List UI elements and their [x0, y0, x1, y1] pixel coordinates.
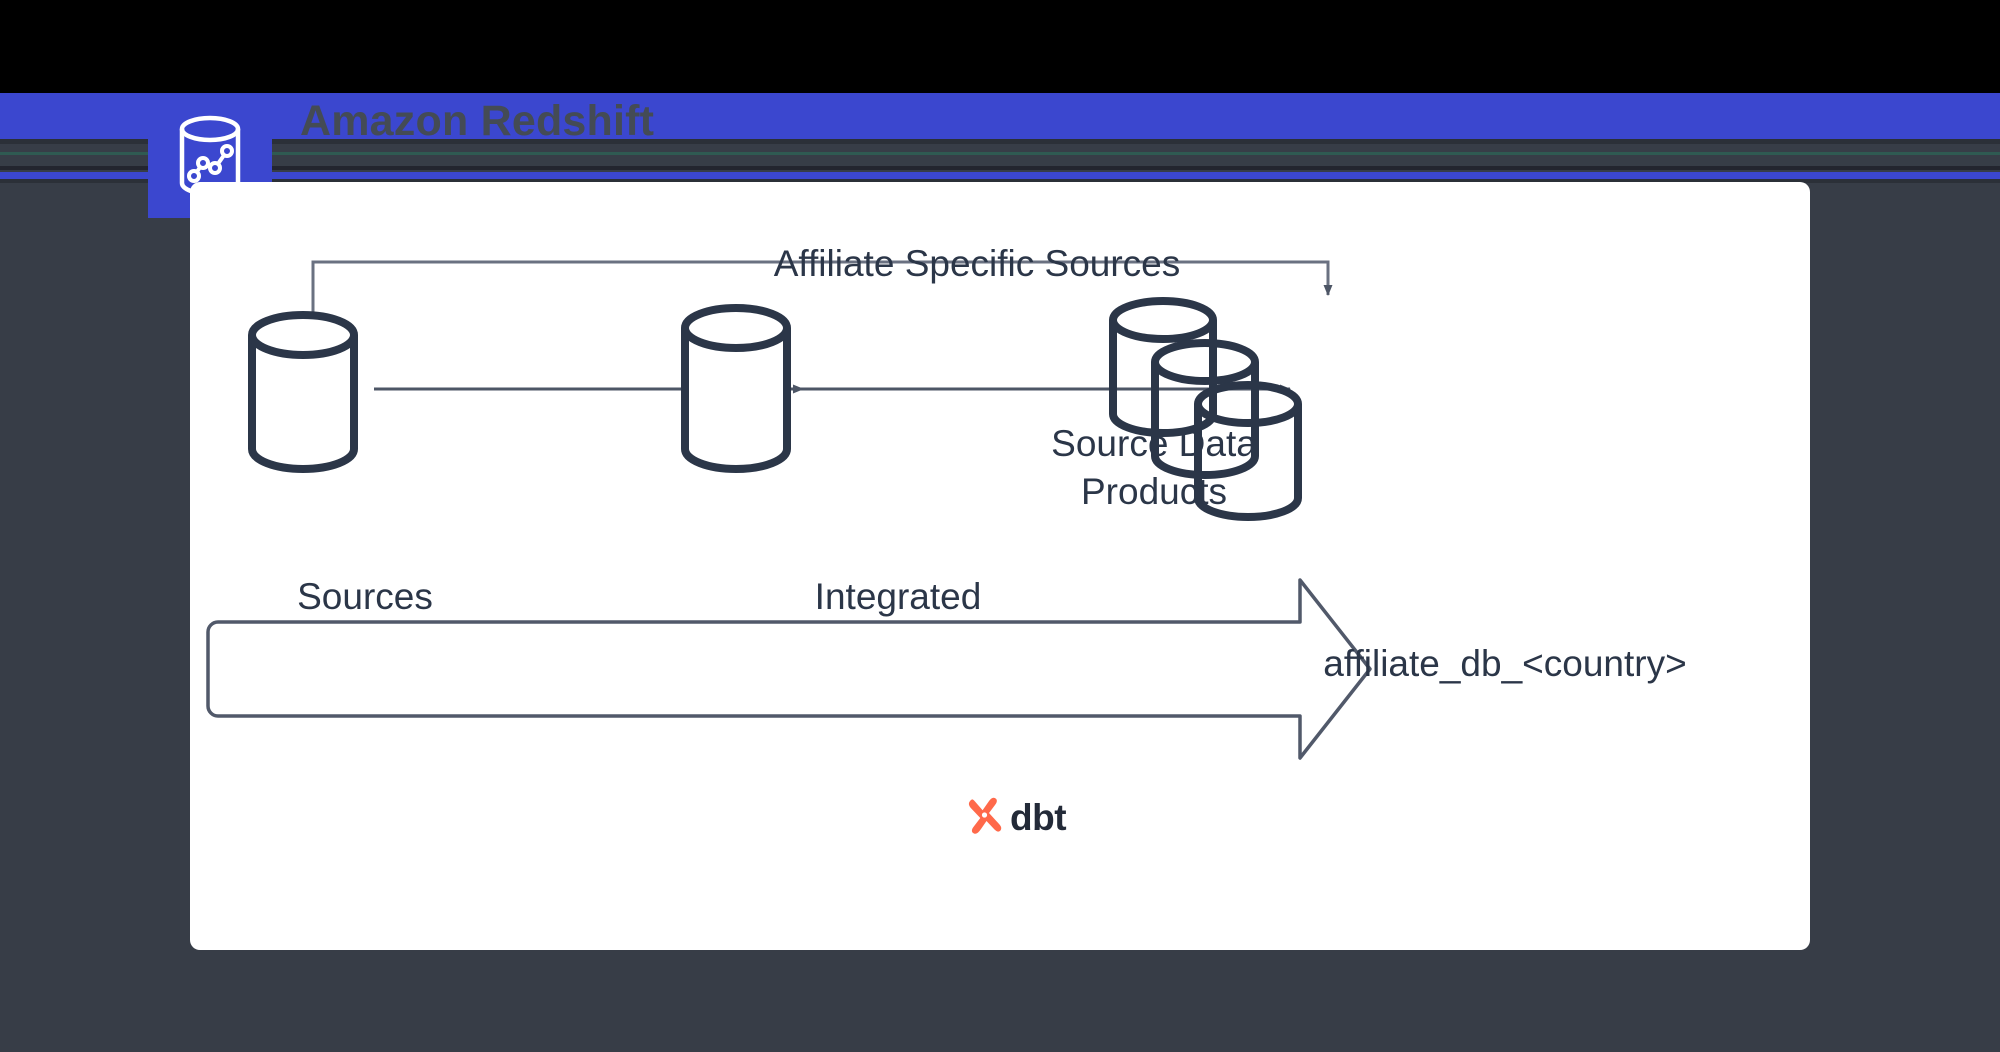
- node-label-integrated: Integrated: [815, 578, 982, 615]
- edge-label-source-data-line2: Products: [1081, 473, 1227, 510]
- node-integrated-cylinder: [685, 308, 787, 469]
- node-label-sources: Sources: [297, 578, 433, 615]
- page-title: Amazon Redshift: [300, 100, 654, 143]
- dbt-x-icon: [963, 795, 1003, 840]
- screenshot-root: Amazon Redshift Amazon Redshift: [0, 0, 2000, 1052]
- edge-label-source-data-line1: Source Data: [1051, 425, 1257, 462]
- node-sources-cylinder: [252, 315, 354, 469]
- header-blue-underline: [0, 172, 2000, 179]
- node-label-affiliate-db: affiliate_db_<country>: [1323, 645, 1686, 682]
- scanline-artifact: [0, 166, 2000, 170]
- scanline-artifact: [0, 152, 2000, 155]
- dbt-wordmark: dbt: [1010, 799, 1066, 836]
- dbt-logo: dbt: [963, 795, 1066, 840]
- edge-label-affiliate-specific-sources: Affiliate Specific Sources: [774, 245, 1181, 282]
